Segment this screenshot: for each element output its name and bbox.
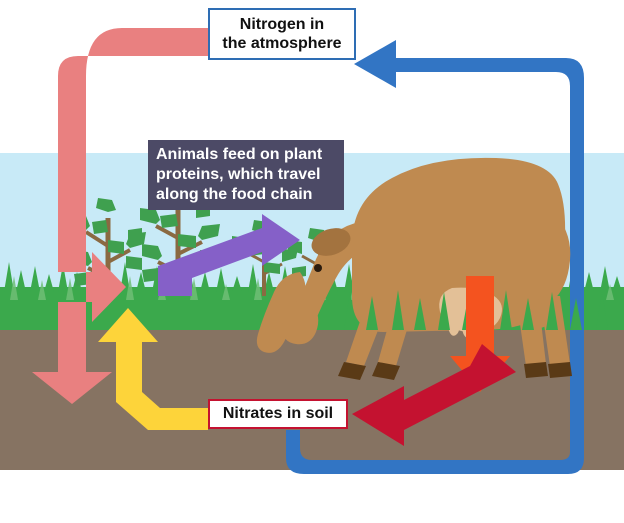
- label-animals-feed: Animals feed on plant proteins, which tr…: [148, 140, 344, 210]
- diagram-canvas: [0, 0, 624, 523]
- label-nitrates-text: Nitrates in soil: [223, 405, 333, 423]
- label-atmosphere-line1: Nitrogen in: [240, 16, 324, 33]
- label-animals-line3: along the food chain: [156, 186, 312, 203]
- label-nitrogen-in-atmosphere: Nitrogen in the atmosphere: [208, 8, 356, 60]
- nitrogen-cycle-diagram: Nitrogen in the atmosphere Animals feed …: [0, 0, 624, 523]
- label-nitrates-in-soil: Nitrates in soil: [208, 399, 348, 429]
- label-animals-line1: Animals feed on plant: [156, 146, 322, 163]
- label-animals-line2: proteins, which travel: [156, 166, 320, 183]
- label-atmosphere-line2: the atmosphere: [222, 35, 341, 52]
